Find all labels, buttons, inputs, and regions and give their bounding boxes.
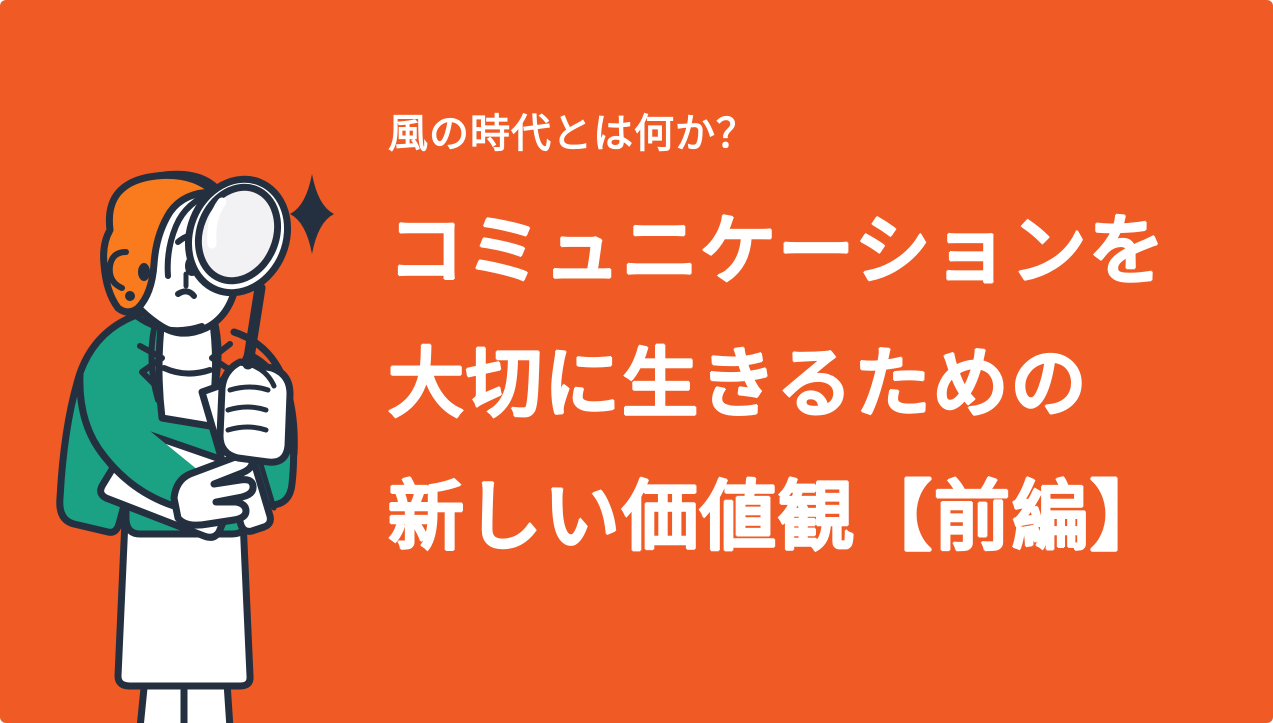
banner-card: 風の時代とは何か？ コミュニケーションを 大切に生きるための 新しい価値観【前編… <box>0 0 1273 723</box>
sparkle-icon <box>290 174 334 254</box>
text-block: 風の時代とは何か？ コミュニケーションを 大切に生きるための 新しい価値観【前編… <box>388 112 1198 556</box>
title-line-1: コミュニケーションを <box>388 214 1198 290</box>
subtitle: 風の時代とは何か？ <box>388 112 1198 156</box>
page-title: コミュニケーションを 大切に生きるための 新しい価値観【前編】 <box>388 214 1198 556</box>
title-line-2: 大切に生きるための <box>388 347 1198 423</box>
title-line-3: 新しい価値観【前編】 <box>388 480 1198 556</box>
woman-with-magnifying-glass-illustration <box>34 168 334 723</box>
gripping-hand-shape <box>220 362 290 462</box>
